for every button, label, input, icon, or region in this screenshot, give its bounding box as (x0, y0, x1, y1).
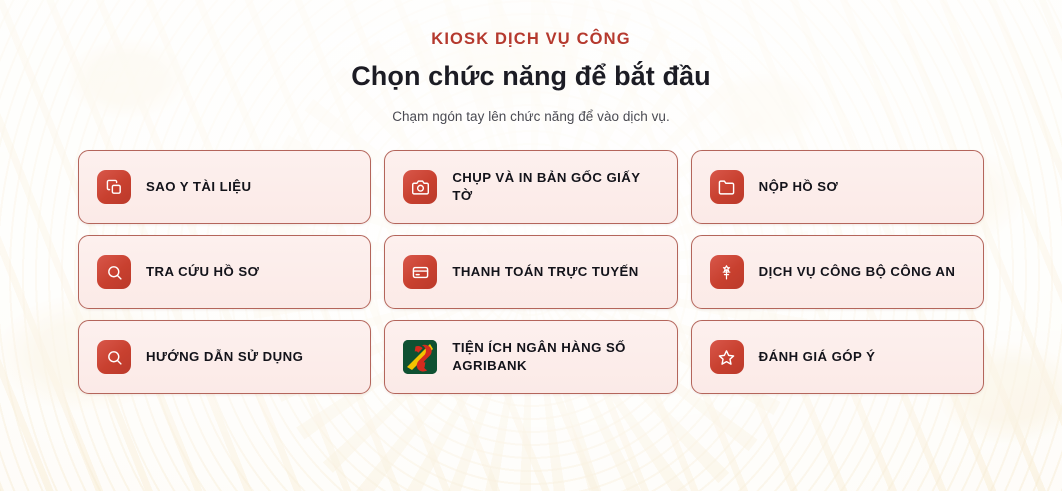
kiosk-home-screen: KIOSK DỊCH VỤ CÔNG Chọn chức năng để bắt… (0, 0, 1062, 491)
credit-card-icon (403, 255, 437, 289)
tile-label: TIỆN ÍCH NGÂN HÀNG SỐ AGRIBANK (452, 339, 658, 375)
page-subtitle: Chạm ngón tay lên chức năng để vào dịch … (351, 109, 711, 124)
tile-tien-ich-ngan-hang-so-agribank[interactable]: TIỆN ÍCH NGÂN HÀNG SỐ AGRIBANK (384, 320, 677, 394)
tile-thanh-toan-truc-tuyen[interactable]: THANH TOÁN TRỰC TUYẾN (384, 235, 677, 309)
agribank-logo-icon (403, 340, 437, 374)
tile-chup-va-in-ban-goc[interactable]: CHỤP VÀ IN BẢN GỐC GIẤY TỜ (384, 150, 677, 224)
kiosk-header: KIOSK DỊCH VỤ CÔNG Chọn chức năng để bắt… (351, 0, 711, 124)
tile-label: TRA CỨU HỒ SƠ (146, 263, 259, 281)
tile-label: ĐÁNH GIÁ GÓP Ý (759, 348, 876, 366)
star-icon (710, 340, 744, 374)
page-title: Chọn chức năng để bắt đầu (351, 61, 711, 92)
tile-huong-dan-su-dung[interactable]: HƯỚNG DẪN SỬ DỤNG (78, 320, 371, 394)
tile-tra-cuu-ho-so[interactable]: TRA CỨU HỒ SƠ (78, 235, 371, 309)
camera-icon (403, 170, 437, 204)
police-emblem-icon (710, 255, 744, 289)
tile-nop-ho-so[interactable]: NỘP HỒ SƠ (691, 150, 984, 224)
tile-dich-vu-cong-bo-cong-an[interactable]: DỊCH VỤ CÔNG BỘ CÔNG AN (691, 235, 984, 309)
copy-icon (97, 170, 131, 204)
tile-label: HƯỚNG DẪN SỬ DỤNG (146, 348, 303, 366)
service-tile-grid: SAO Y TÀI LIỆU CHỤP VÀ IN BẢN GỐC GIẤY T… (78, 150, 984, 394)
folder-icon (710, 170, 744, 204)
tile-label: THANH TOÁN TRỰC TUYẾN (452, 263, 638, 281)
search-icon (97, 255, 131, 289)
kiosk-eyebrow-title: KIOSK DỊCH VỤ CÔNG (351, 30, 711, 48)
tile-label: CHỤP VÀ IN BẢN GỐC GIẤY TỜ (452, 169, 658, 205)
search-icon (97, 340, 131, 374)
tile-danh-gia-gop-y[interactable]: ĐÁNH GIÁ GÓP Ý (691, 320, 984, 394)
tile-label: SAO Y TÀI LIỆU (146, 178, 251, 196)
tile-label: NỘP HỒ SƠ (759, 178, 839, 196)
tile-label: DỊCH VỤ CÔNG BỘ CÔNG AN (759, 263, 956, 281)
tile-sao-y-tai-lieu[interactable]: SAO Y TÀI LIỆU (78, 150, 371, 224)
